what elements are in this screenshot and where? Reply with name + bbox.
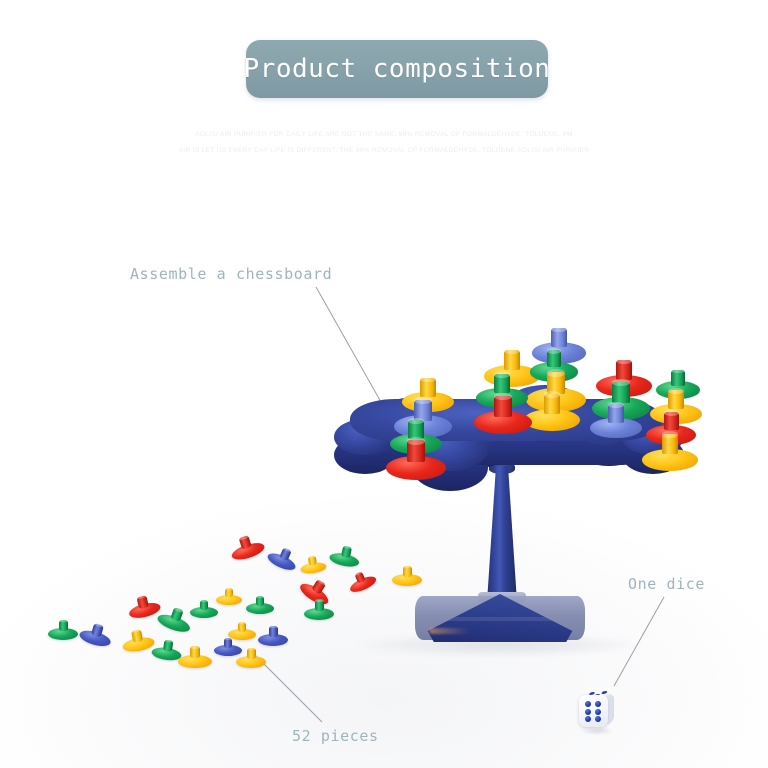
loose-piece: [216, 588, 242, 606]
balance-tree-toy: [0, 0, 768, 768]
piece-peg-top: [551, 326, 567, 332]
loose-piece: [78, 620, 115, 650]
dice-front-face: [579, 695, 608, 727]
dice-pip: [585, 716, 591, 722]
loose-pieces-group: [0, 0, 768, 768]
stacked-piece: [590, 404, 642, 440]
piece-peg-top: [190, 644, 200, 648]
loose-piece: [258, 626, 288, 647]
piece-peg-top: [247, 647, 256, 651]
stacked-piece: [524, 394, 580, 433]
loose-piece: [392, 566, 422, 587]
dice-pip: [585, 709, 591, 715]
piece-peg-top: [59, 619, 68, 623]
dice-pip: [595, 716, 601, 722]
loose-piece: [236, 648, 266, 669]
stacked-piece: [474, 396, 532, 437]
dice-pip: [595, 701, 601, 707]
dice: [579, 688, 615, 728]
loose-piece: [265, 543, 301, 574]
piece-peg-top: [494, 372, 510, 378]
loose-piece: [345, 567, 379, 596]
piece-peg-top: [408, 418, 424, 424]
piece-peg-top: [403, 565, 412, 569]
loose-piece: [304, 600, 334, 621]
stacked-piece: [642, 434, 698, 473]
piece-peg-top: [269, 625, 278, 629]
piece-peg-top: [547, 348, 561, 354]
piece-peg-top: [407, 437, 425, 444]
loose-piece: [178, 646, 212, 670]
stacked-piece: [386, 440, 446, 482]
loose-piece: [328, 543, 362, 570]
product-composition-image: Product composition AOLISI AIR PURIFIER …: [0, 0, 768, 768]
piece-peg-top: [420, 376, 436, 382]
piece-peg-top: [547, 369, 565, 376]
loose-piece: [246, 596, 274, 616]
loose-piece: [120, 627, 155, 655]
piece-peg-top: [608, 402, 624, 408]
piece-peg-top: [225, 587, 233, 590]
loose-piece: [48, 620, 78, 641]
piece-peg-top: [668, 388, 684, 394]
loose-piece: [227, 531, 267, 564]
dice-pip: [585, 701, 591, 707]
piece-peg-top: [315, 599, 324, 603]
loose-piece: [299, 554, 327, 576]
dice-pip: [595, 709, 601, 715]
piece-peg-top: [664, 410, 679, 416]
